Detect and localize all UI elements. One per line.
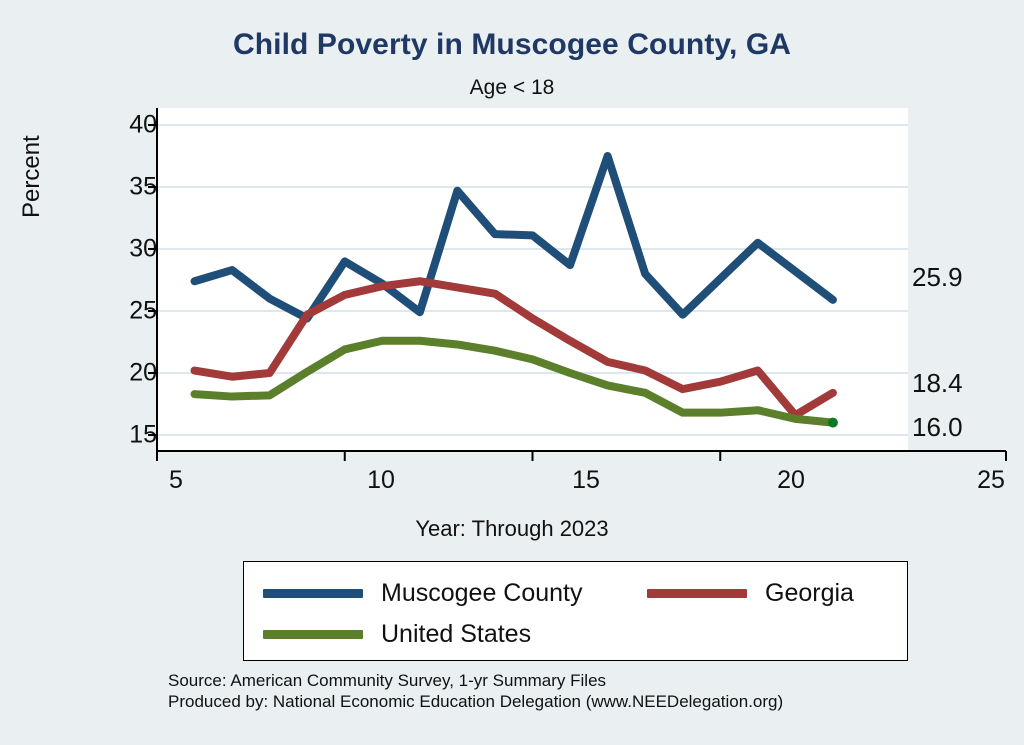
legend: Muscogee County Georgia United States <box>243 561 908 661</box>
legend-swatch-united-states-icon <box>263 630 363 639</box>
legend-swatch-georgia-icon <box>647 589 747 598</box>
legend-label-muscogee: Muscogee County <box>381 579 583 608</box>
chart-root: Child Poverty in Muscogee County, GA Age… <box>0 0 1024 745</box>
end-label-muscogee: 25.9 <box>912 262 963 293</box>
legend-item-muscogee[interactable]: Muscogee County <box>263 579 583 608</box>
end-label-united-states: 16.0 <box>912 412 963 443</box>
footnote-producer: Produced by: National Economic Education… <box>168 691 783 712</box>
footnote: Source: American Community Survey, 1-yr … <box>168 670 783 712</box>
legend-swatch-muscogee-icon <box>263 589 363 598</box>
plot-background <box>157 108 908 451</box>
legend-label-georgia: Georgia <box>765 579 854 608</box>
legend-item-united-states[interactable]: United States <box>263 620 531 649</box>
footnote-source: Source: American Community Survey, 1-yr … <box>168 670 783 691</box>
legend-label-united-states: United States <box>381 620 531 649</box>
series-endpoint-marker <box>828 418 838 428</box>
legend-item-georgia[interactable]: Georgia <box>647 579 854 608</box>
end-label-georgia: 18.4 <box>912 368 963 399</box>
